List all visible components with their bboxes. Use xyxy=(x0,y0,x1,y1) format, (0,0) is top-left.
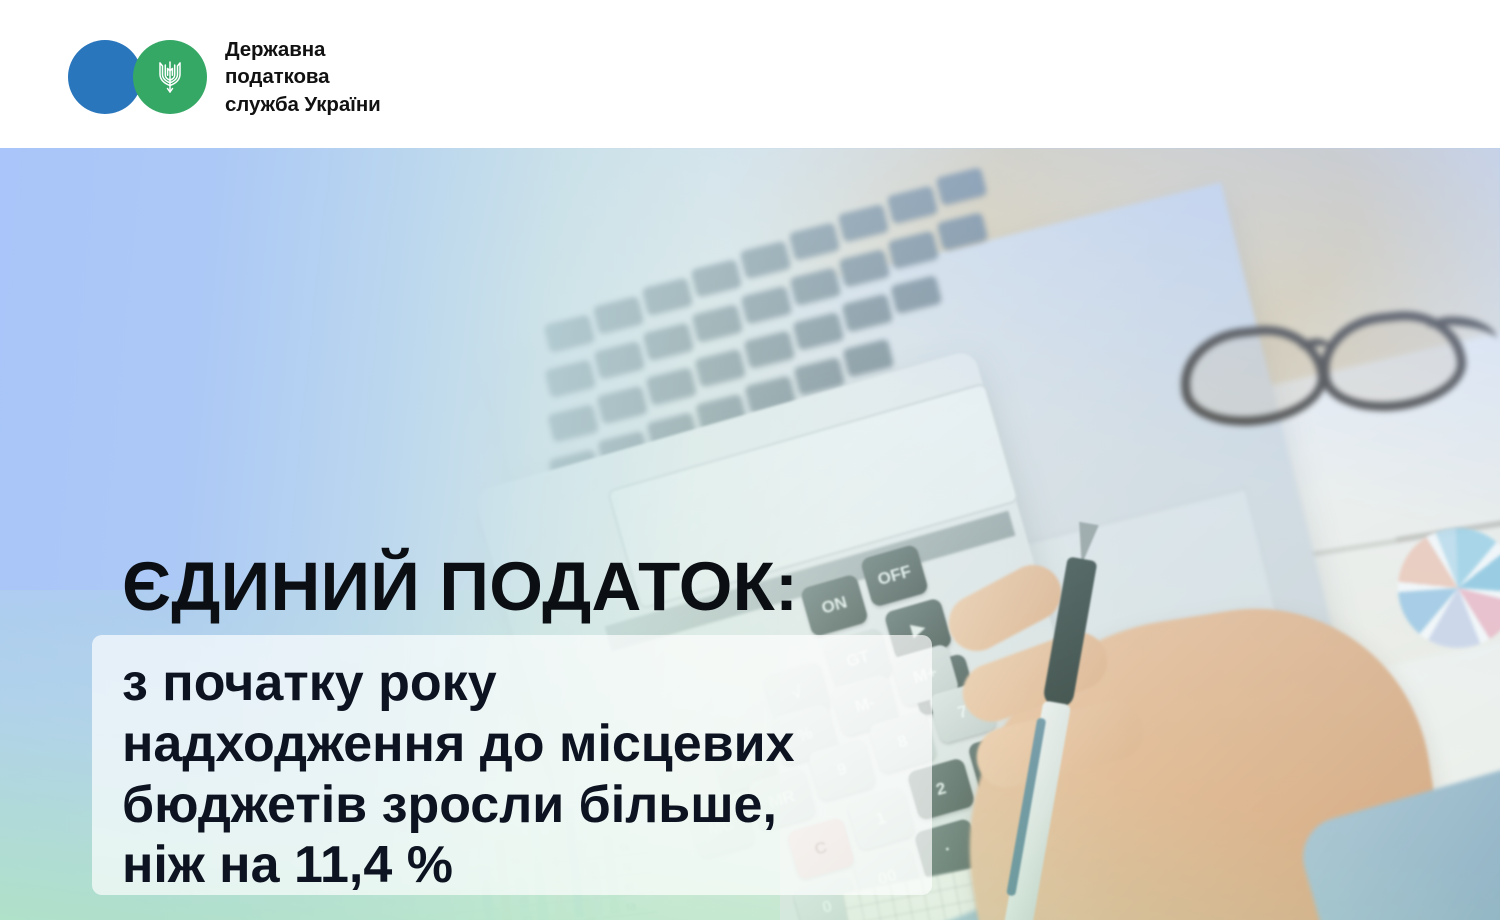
logo-marks xyxy=(68,40,207,114)
logo-line-1: Державна xyxy=(225,36,381,63)
logo-blue-circle-icon xyxy=(68,40,142,114)
body-line-2: надходження до місцевих xyxy=(122,714,922,775)
infographic-poster: Державна податкова служба України xyxy=(0,0,1500,920)
body-copy: з початку року надходження до місцевих б… xyxy=(122,653,922,896)
page-title: ЄДИНИЙ ПОДАТОК: xyxy=(122,552,798,621)
hero-stage: ON OFF GT ▶ √ ÷ MU % M- M+ MC MR 9 8 7 C xyxy=(0,148,1500,920)
page-header: Державна податкова служба України xyxy=(0,0,1500,148)
body-line-1: з початку року xyxy=(122,653,922,714)
tax-service-logo[interactable]: Державна податкова служба України xyxy=(68,36,381,118)
logo-line-3: служба України xyxy=(225,91,381,118)
body-line-4: ніж на 11,4 % xyxy=(122,835,922,896)
logo-wordmark: Державна податкова служба України xyxy=(225,36,381,118)
body-line-3: бюджетів зросли більше, xyxy=(122,775,922,836)
ukraine-trident-icon xyxy=(156,57,184,97)
logo-line-2: податкова xyxy=(225,63,381,90)
